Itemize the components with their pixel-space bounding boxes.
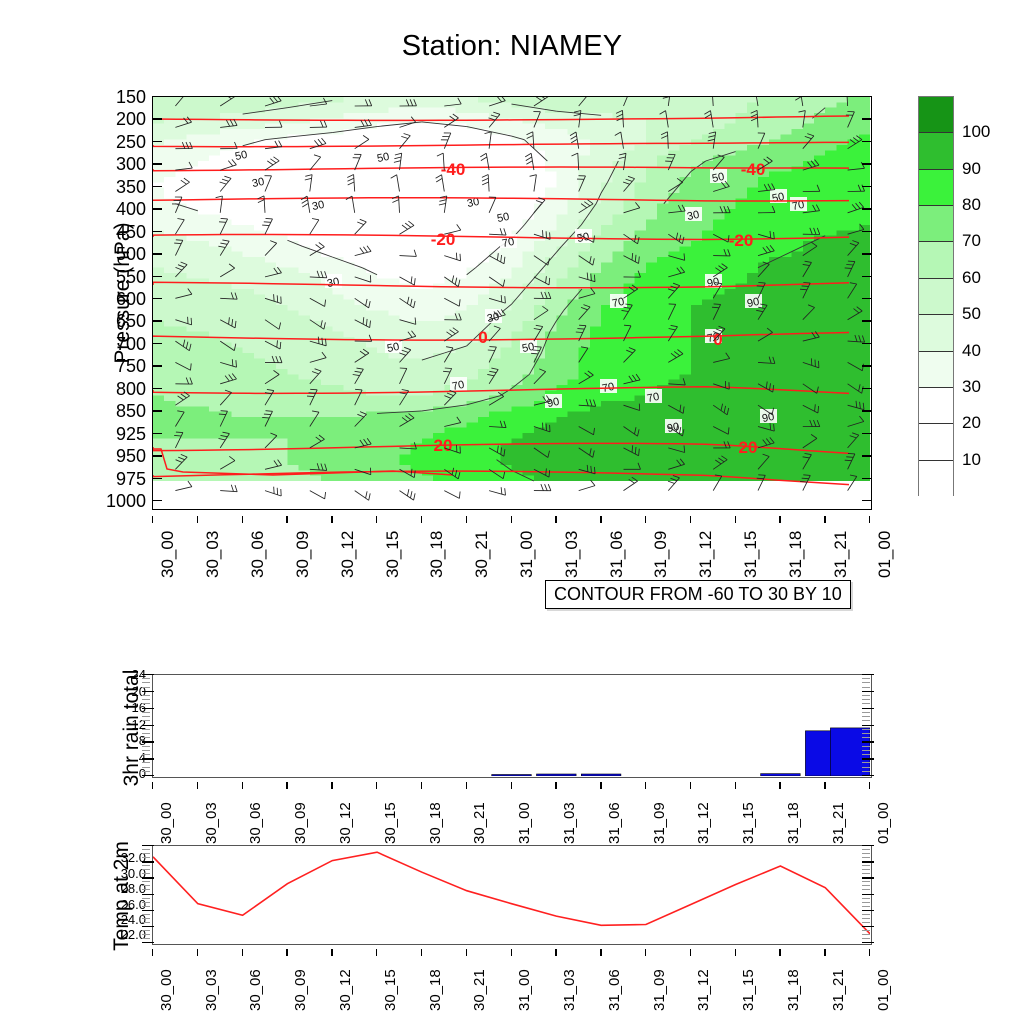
rain-y-tick-mark [142, 733, 150, 734]
main-y-tick-label: 450 [116, 223, 146, 241]
x-tick-mark [197, 949, 198, 956]
main-y-tick-mark [152, 141, 162, 142]
main-y-tick-label: 500 [116, 245, 146, 263]
main-y-tick-mark [862, 433, 872, 434]
temp-y-tick-mark [142, 910, 154, 911]
temp-y-tick-mark [142, 898, 150, 899]
x-tick-label: 31_18 [785, 802, 802, 844]
x-tick-label: 31_09 [651, 531, 671, 578]
temp-y-tick-mark [862, 865, 870, 866]
x-tick-label: 31_21 [831, 531, 851, 578]
rain-x-axis: 30_0030_0330_0630_0930_1230_1530_1830_21… [152, 782, 872, 852]
main-y-tick-label: 800 [116, 380, 146, 398]
main-y-tick-mark [152, 500, 162, 501]
main-y-tick-mark [862, 186, 872, 187]
x-tick-mark [645, 949, 646, 956]
x-tick-label: 31_12 [695, 969, 712, 1011]
colorbar-tick-label: 80 [962, 195, 981, 215]
temp-y-tick-mark [142, 877, 154, 878]
rain-y-tick-mark [862, 729, 870, 730]
rain-y-tick-mark [862, 708, 874, 709]
x-tick-mark [690, 516, 691, 523]
rain-y-tick-mark [142, 699, 150, 700]
temp-y-tick-mark [862, 877, 874, 878]
colorbar-tick-label: 100 [962, 122, 990, 142]
temp-y-tick-mark [142, 894, 154, 895]
temp-y-tick-mark [862, 922, 870, 923]
main-x-axis: 30_0030_0330_0630_0930_1230_1530_1830_21… [152, 516, 872, 586]
main-y-tick-label: 300 [116, 155, 146, 173]
temp-y-tick-mark [862, 869, 870, 870]
main-y-tick-mark [152, 208, 162, 209]
x-tick-label: 01_00 [875, 802, 892, 844]
sounding-panel[interactable]: 3050503030305050707030305050707070909090… [152, 96, 872, 510]
main-y-tick-label: 150 [116, 88, 146, 106]
rain-y-tick-mark [862, 682, 870, 683]
x-tick-label: 31_21 [830, 969, 847, 1011]
rain-y-tick-mark [142, 695, 150, 696]
main-y-tick-mark [862, 455, 872, 456]
x-tick-mark [376, 516, 377, 523]
rain-y-tick-mark [142, 729, 150, 730]
x-tick-mark [600, 949, 601, 956]
rain-y-tick-mark [142, 687, 150, 688]
x-tick-label: 31_09 [651, 969, 668, 1011]
main-y-tick-label: 925 [116, 425, 146, 443]
x-tick-label: 31_09 [651, 802, 668, 844]
temp-panel[interactable] [152, 845, 872, 945]
main-y-tick-mark [152, 320, 162, 321]
main-y-tick-mark [152, 253, 162, 254]
main-y-tick-mark [152, 231, 162, 232]
main-y-tick-mark [862, 410, 872, 411]
x-tick-mark [779, 782, 780, 789]
x-tick-mark [197, 516, 198, 523]
rain-y-tick-mark [862, 687, 870, 688]
main-y-tick-mark [862, 388, 872, 389]
temp-y-tick-mark [142, 930, 150, 931]
x-tick-mark [376, 949, 377, 956]
colorbar-tick-label: 40 [962, 341, 981, 361]
rain-y-tick-mark [862, 737, 870, 738]
colorbar-tick-label: 10 [962, 450, 981, 470]
page-title: Station: NIAMEY [0, 30, 1024, 63]
main-y-tick-mark [862, 500, 872, 501]
x-tick-label: 30_18 [427, 969, 444, 1011]
x-tick-label: 30_21 [471, 969, 488, 1011]
x-tick-mark [735, 516, 736, 523]
main-y-axis: Pressure (hPa) 1502002503003504004505005… [60, 96, 146, 510]
temp-y-tick-mark [862, 885, 870, 886]
temp-y-tick-mark [142, 889, 150, 890]
x-tick-label: 30_03 [203, 531, 223, 578]
x-tick-label: 31_00 [516, 969, 533, 1011]
temp-y-tick-mark [142, 918, 150, 919]
main-y-tick-mark [152, 96, 162, 97]
x-tick-label: 31_03 [561, 802, 578, 844]
x-tick-label: 30_09 [292, 802, 309, 844]
temp-y-tick-label: 24.0 [121, 913, 146, 926]
x-tick-label: 31_00 [516, 802, 533, 844]
temp-y-tick-mark [142, 845, 154, 846]
rain-y-tick-mark [142, 678, 150, 679]
x-tick-label: 30_09 [293, 531, 313, 578]
temp-y-tick-mark [862, 898, 870, 899]
x-tick-mark [779, 516, 780, 523]
x-tick-label: 30_12 [337, 969, 354, 1011]
rain-y-tick-mark [862, 674, 874, 675]
main-y-tick-mark [152, 276, 162, 277]
main-y-tick-mark [152, 186, 162, 187]
rain-y-tick-mark [862, 775, 874, 776]
x-tick-mark [197, 782, 198, 789]
rain-y-tick-mark [862, 703, 870, 704]
x-tick-mark [421, 782, 422, 789]
main-y-tick-mark [152, 118, 162, 119]
x-tick-mark [242, 782, 243, 789]
x-tick-label: 31_12 [695, 802, 712, 844]
svg-text:70: 70 [611, 296, 625, 310]
rain-y-tick-mark [142, 746, 150, 747]
x-tick-label: 31_15 [740, 969, 757, 1011]
main-y-tick-label: 975 [116, 470, 146, 488]
x-tick-mark [735, 782, 736, 789]
temp-y-tick-mark [142, 938, 150, 939]
colorbar-tick-label: 90 [962, 159, 981, 179]
rain-y-tick-mark [862, 746, 870, 747]
x-tick-label: 31_21 [830, 802, 847, 844]
x-tick-mark [869, 949, 870, 956]
temp-y-tick-mark [862, 906, 870, 907]
temp-y-tick-mark [862, 873, 870, 874]
rain-y-tick-mark [862, 678, 870, 679]
x-tick-mark [421, 516, 422, 523]
main-y-tick-mark [862, 118, 872, 119]
x-tick-mark [152, 516, 153, 523]
x-tick-label: 30_06 [248, 531, 268, 578]
main-y-tick-mark [152, 478, 162, 479]
temp-y-tick-mark [862, 926, 874, 927]
x-tick-label: 31_12 [696, 531, 716, 578]
x-tick-label: 31_15 [740, 802, 757, 844]
main-y-tick-mark [862, 298, 872, 299]
main-y-tick-mark [862, 231, 872, 232]
main-y-tick-mark [152, 410, 162, 411]
temp-y-tick-mark [142, 934, 150, 935]
svg-text:30: 30 [251, 176, 265, 190]
temp-y-tick-mark [142, 869, 150, 870]
x-tick-label: 30_15 [382, 969, 399, 1011]
x-tick-mark [779, 949, 780, 956]
x-tick-label: 31_18 [786, 531, 806, 578]
x-tick-label: 30_00 [158, 969, 175, 1011]
x-tick-mark [331, 782, 332, 789]
colorbar-tick-label: 20 [962, 413, 981, 433]
rain-y-tick-mark [142, 703, 150, 704]
temp-y-tick-mark [142, 853, 150, 854]
x-tick-mark [690, 782, 691, 789]
x-tick-label: 30_18 [427, 802, 444, 844]
temp-y-tick-mark [142, 902, 150, 903]
main-y-tick-mark [152, 343, 162, 344]
rain-y-tick-mark [862, 750, 870, 751]
rain-y-tick-mark [142, 758, 154, 759]
x-tick-label: 30_03 [203, 969, 220, 1011]
temp-y-tick-mark [862, 902, 870, 903]
temp-y-tick-mark [862, 938, 870, 939]
temp-y-tick-mark [862, 857, 870, 858]
colorbar-tick-label: 50 [962, 304, 981, 324]
x-tick-label: 30_15 [383, 531, 403, 578]
rain-y-tick-mark [142, 720, 150, 721]
rain-y-tick-mark [142, 708, 154, 709]
main-y-tick-mark [862, 478, 872, 479]
colorbar-tick-label: 70 [962, 231, 981, 251]
rain-y-tick-mark [142, 691, 154, 692]
rain-y-tick-mark [142, 750, 150, 751]
rain-y-tick-mark [862, 741, 874, 742]
rain-y-tick-mark [862, 712, 870, 713]
temp-y-tick-mark [142, 942, 154, 943]
temp-y-tick-mark [142, 926, 154, 927]
main-y-tick-label: 200 [116, 110, 146, 128]
x-tick-mark [466, 516, 467, 523]
main-y-tick-label: 1000 [106, 492, 146, 510]
rain-y-tick-mark [862, 733, 870, 734]
x-tick-label: 30_21 [472, 531, 492, 578]
x-tick-label: 31_15 [741, 531, 761, 578]
x-tick-label: 30_00 [158, 531, 178, 578]
temp-y-tick-mark [862, 918, 870, 919]
rain-y-tick-mark [862, 754, 870, 755]
rain-y-tick-mark [862, 716, 870, 717]
main-y-tick-mark [152, 365, 162, 366]
temp-y-tick-mark [862, 942, 874, 943]
x-tick-label: 30_00 [158, 802, 175, 844]
main-y-tick-label: 350 [116, 178, 146, 196]
rain-y-tick-mark [142, 712, 150, 713]
main-y-tick-label: 750 [116, 357, 146, 375]
x-tick-mark [511, 516, 512, 523]
temp-y-axis-title: Temp at 2m [110, 796, 134, 996]
main-y-tick-mark [152, 433, 162, 434]
x-tick-label: 31_00 [517, 531, 537, 578]
svg-text:30: 30 [311, 199, 325, 213]
temp-y-tick-mark [862, 849, 870, 850]
x-tick-mark [824, 516, 825, 523]
temp-y-tick-mark [862, 934, 870, 935]
temp-y-tick-mark [862, 894, 874, 895]
temp-y-tick-mark [142, 865, 150, 866]
rain-y-tick-mark [142, 716, 150, 717]
temp-y-tick-mark [142, 857, 150, 858]
x-tick-label: 31_06 [607, 531, 627, 578]
x-tick-mark [286, 949, 287, 956]
temp-y-tick-mark [862, 889, 870, 890]
temp-y-tick-mark [142, 861, 154, 862]
chart-page: Station: NIAMEY Pressure (hPa) 150200250… [0, 0, 1024, 1024]
temp-y-tick-mark [142, 849, 150, 850]
rain-y-tick-mark [142, 725, 154, 726]
main-y-tick-mark [862, 276, 872, 277]
x-tick-label: 30_15 [382, 802, 399, 844]
svg-text:30: 30 [686, 209, 700, 223]
x-tick-mark [645, 782, 646, 789]
x-tick-label: 31_06 [606, 969, 623, 1011]
x-tick-mark [735, 949, 736, 956]
x-tick-mark [824, 949, 825, 956]
rain-y-tick-mark [862, 767, 870, 768]
x-tick-label: 31_03 [561, 969, 578, 1011]
x-tick-mark [331, 949, 332, 956]
rain-y-tick-mark [142, 775, 154, 776]
rain-bars [153, 675, 870, 776]
rain-y-tick-mark [862, 720, 870, 721]
temp-y-tick-mark [142, 881, 150, 882]
x-tick-mark [869, 516, 870, 523]
main-y-tick-mark [152, 298, 162, 299]
main-y-tick-mark [862, 320, 872, 321]
temp-y-tick-mark [142, 885, 150, 886]
main-y-tick-mark [862, 253, 872, 254]
temp-y-tick-mark [862, 881, 870, 882]
x-tick-mark [869, 782, 870, 789]
x-tick-label: 30_12 [337, 802, 354, 844]
rain-y-tick-mark [142, 767, 150, 768]
x-tick-label: 01_00 [875, 969, 892, 1011]
x-tick-label: 30_21 [471, 802, 488, 844]
main-y-tick-mark [862, 163, 872, 164]
main-y-tick-label: 400 [116, 200, 146, 218]
x-tick-mark [600, 782, 601, 789]
x-tick-mark [511, 782, 512, 789]
temp-y-tick-label: 26.0 [121, 898, 146, 911]
rain-y-tick-mark [142, 754, 150, 755]
main-y-tick-label: 700 [116, 335, 146, 353]
x-tick-mark [555, 949, 556, 956]
rain-y-tick-mark [142, 737, 150, 738]
x-tick-mark [690, 949, 691, 956]
rain-y-tick-mark [862, 771, 870, 772]
rain-y-tick-mark [142, 741, 154, 742]
x-tick-mark [421, 949, 422, 956]
x-tick-mark [824, 782, 825, 789]
main-y-tick-label: 250 [116, 133, 146, 151]
rain-y-tick-mark [862, 695, 870, 696]
main-y-tick-mark [152, 163, 162, 164]
x-tick-label: 30_03 [203, 802, 220, 844]
svg-text:50: 50 [234, 149, 248, 163]
x-tick-label: 31_03 [562, 531, 582, 578]
x-tick-mark [466, 949, 467, 956]
colorbar-labels: 100908070605040302010 [918, 96, 1018, 496]
svg-text:50: 50 [496, 211, 510, 225]
temp-y-tick-mark [142, 906, 150, 907]
main-y-tick-label: 650 [116, 312, 146, 330]
temp-y-tick-mark [862, 930, 870, 931]
rain-y-tick-mark [142, 771, 150, 772]
x-tick-mark [511, 949, 512, 956]
colorbar-tick-label: 60 [962, 268, 981, 288]
rain-y-tick-mark [862, 699, 870, 700]
rain-y-tick-mark [142, 762, 150, 763]
x-tick-label: 30_06 [247, 969, 264, 1011]
x-tick-mark [376, 782, 377, 789]
main-y-tick-label: 950 [116, 447, 146, 465]
temp-x-axis: 30_0030_0330_0630_0930_1230_1530_1830_21… [152, 949, 872, 1019]
colorbar-tick-label: 30 [962, 377, 981, 397]
x-tick-label: 31_06 [606, 802, 623, 844]
temp-y-tick-mark [862, 853, 870, 854]
x-tick-mark [152, 949, 153, 956]
temp-y-tick-mark [142, 914, 150, 915]
main-y-tick-label: 600 [116, 290, 146, 308]
temp-y-axis: Temp at 2m 32.030.028.026.024.022.0 [84, 840, 146, 952]
x-tick-mark [331, 516, 332, 523]
temp-y-tick-mark [862, 914, 870, 915]
x-tick-mark [286, 782, 287, 789]
x-tick-mark [600, 516, 601, 523]
x-tick-mark [152, 782, 153, 789]
main-y-tick-mark [862, 141, 872, 142]
x-tick-label: 30_18 [427, 531, 447, 578]
temp-line [153, 846, 870, 943]
x-tick-label: 30_06 [247, 802, 264, 844]
main-y-tick-mark [152, 455, 162, 456]
x-tick-mark [466, 782, 467, 789]
rain-y-axis: 3hr rain total 24201612840 [92, 668, 146, 784]
main-y-tick-label: 550 [116, 268, 146, 286]
sounding-plot: 3050503030305050707030305050707070909090… [153, 97, 870, 508]
x-tick-label: 01_00 [875, 531, 895, 578]
main-y-tick-label: 850 [116, 402, 146, 420]
rain-y-tick-mark [862, 758, 874, 759]
rain-y-tick-label: 0 [139, 767, 146, 780]
temp-y-tick-mark [862, 861, 874, 862]
x-tick-mark [555, 516, 556, 523]
main-y-tick-mark [862, 96, 872, 97]
svg-text:50: 50 [376, 151, 390, 165]
temp-y-tick-mark [142, 873, 150, 874]
main-y-tick-mark [862, 343, 872, 344]
x-tick-mark [242, 949, 243, 956]
x-tick-mark [286, 516, 287, 523]
x-tick-mark [555, 782, 556, 789]
rain-y-tick-mark [862, 762, 870, 763]
x-tick-label: 30_12 [338, 531, 358, 578]
rain-y-tick-mark [142, 674, 154, 675]
rain-y-tick-mark [142, 682, 150, 683]
temp-y-tick-mark [862, 910, 874, 911]
x-tick-mark [645, 516, 646, 523]
x-tick-mark [242, 516, 243, 523]
rain-y-tick-mark [862, 691, 874, 692]
main-y-tick-mark [862, 208, 872, 209]
x-tick-label: 31_18 [785, 969, 802, 1011]
x-tick-label: 30_09 [292, 969, 309, 1011]
main-y-tick-mark [862, 365, 872, 366]
temp-y-tick-mark [142, 922, 150, 923]
temp-y-tick-mark [862, 845, 874, 846]
rain-y-tick-mark [862, 725, 874, 726]
rain-panel[interactable] [152, 674, 872, 778]
main-y-tick-mark [152, 388, 162, 389]
